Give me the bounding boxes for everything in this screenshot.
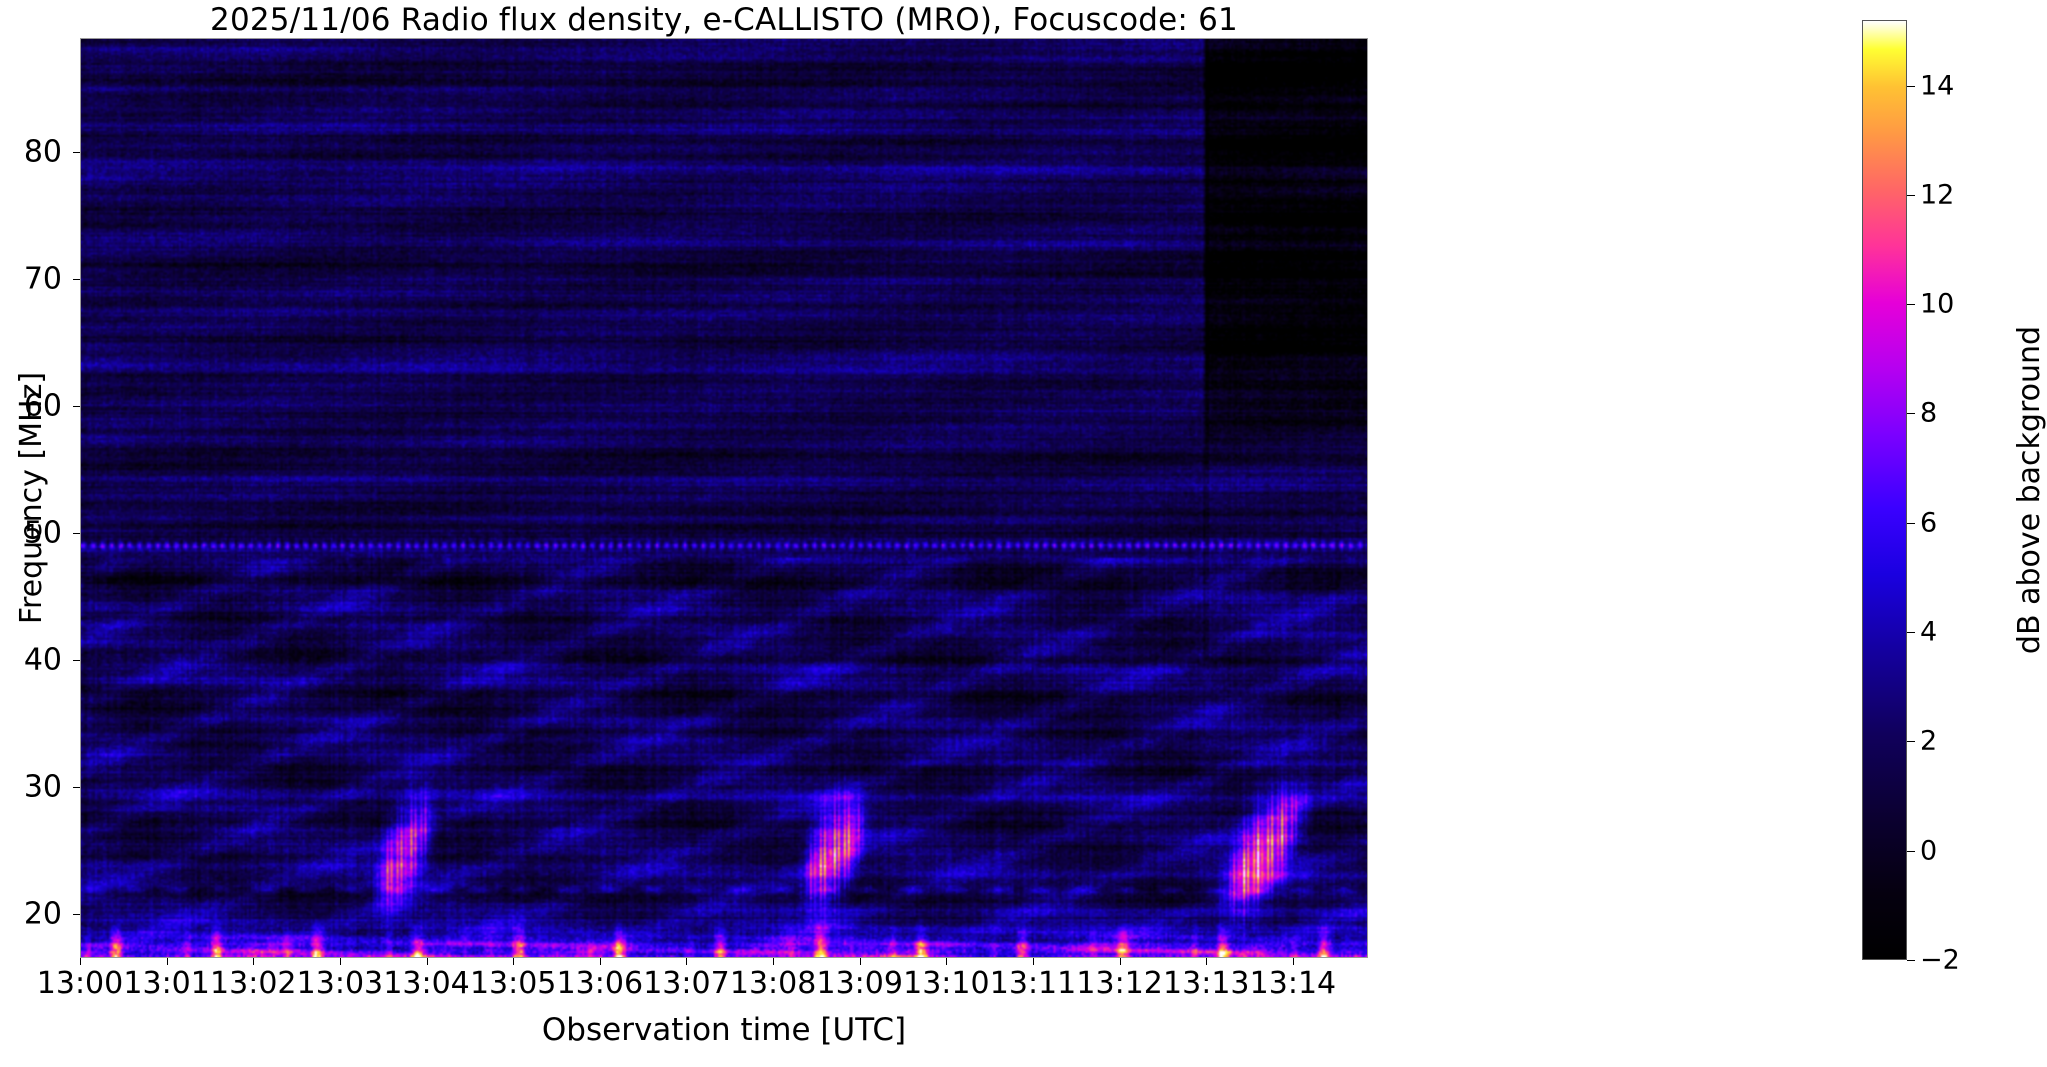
y-tick-mark — [73, 533, 80, 534]
x-tick-label: 13:07 — [643, 966, 729, 1001]
colorbar-gradient — [1863, 21, 1906, 959]
y-tick-label: 50 — [0, 515, 62, 550]
x-tick-mark — [167, 958, 168, 965]
x-tick-label: 13:13 — [1163, 966, 1249, 1001]
colorbar-tick-label: 4 — [1920, 617, 1937, 648]
colorbar-tick-mark — [1907, 413, 1915, 414]
x-tick-label: 13:01 — [123, 966, 209, 1001]
x-tick-mark — [1206, 958, 1207, 965]
x-tick-mark — [1293, 958, 1294, 965]
x-tick-label: 13:03 — [297, 966, 383, 1001]
colorbar-tick-label: 0 — [1920, 835, 1937, 866]
x-tick-mark — [773, 958, 774, 965]
x-tick-mark — [1033, 958, 1034, 965]
colorbar-tick-mark — [1907, 632, 1915, 633]
x-tick-label: 13:12 — [1076, 966, 1162, 1001]
x-tick-mark — [80, 958, 81, 965]
colorbar-label: dB above background — [2012, 20, 2047, 960]
x-tick-label: 13:08 — [730, 966, 816, 1001]
x-tick-label: 13:02 — [210, 966, 296, 1001]
x-tick-label: 13:09 — [816, 966, 902, 1001]
y-tick-label: 20 — [0, 896, 62, 931]
x-tick-mark — [427, 958, 428, 965]
x-tick-mark — [1120, 958, 1121, 965]
x-tick-mark — [946, 958, 947, 965]
y-tick-label: 30 — [0, 769, 62, 804]
x-tick-mark — [600, 958, 601, 965]
y-axis-label: Frequency [MHz] — [14, 38, 48, 958]
colorbar-tick-mark — [1907, 741, 1915, 742]
x-tick-mark — [686, 958, 687, 965]
colorbar-tick-mark — [1907, 86, 1915, 87]
y-tick-mark — [73, 279, 80, 280]
x-tick-label: 13:06 — [557, 966, 643, 1001]
y-tick-mark — [73, 660, 80, 661]
colorbar-tick-label: 8 — [1920, 398, 1937, 429]
x-tick-label: 13:10 — [903, 966, 989, 1001]
x-tick-mark — [513, 958, 514, 965]
spectrogram-plot-area[interactable] — [80, 38, 1368, 958]
colorbar-tick-label: 10 — [1920, 289, 1954, 320]
y-tick-mark — [73, 914, 80, 915]
x-axis-label: Observation time [UTC] — [80, 1012, 1368, 1048]
colorbar-tick-mark — [1907, 195, 1915, 196]
x-tick-mark — [340, 958, 341, 965]
page-title: 2025/11/06 Radio flux density, e-CALLIST… — [80, 2, 1368, 38]
x-tick-label: 13:00 — [37, 966, 123, 1001]
y-tick-label: 40 — [0, 642, 62, 677]
colorbar-tick-label: 2 — [1920, 726, 1937, 757]
x-tick-label: 13:04 — [383, 966, 469, 1001]
x-tick-mark — [860, 958, 861, 965]
colorbar[interactable] — [1862, 20, 1907, 960]
colorbar-tick-mark — [1907, 304, 1915, 305]
x-tick-label: 13:05 — [470, 966, 556, 1001]
x-tick-mark — [253, 958, 254, 965]
colorbar-tick-label: −2 — [1920, 945, 1960, 976]
y-tick-label: 80 — [0, 135, 62, 170]
colorbar-tick-label: 14 — [1920, 70, 1954, 101]
colorbar-tick-label: 6 — [1920, 507, 1937, 538]
y-tick-label: 60 — [0, 389, 62, 424]
x-tick-label: 13:14 — [1250, 966, 1336, 1001]
y-tick-label: 70 — [0, 262, 62, 297]
y-tick-mark — [73, 406, 80, 407]
colorbar-tick-mark — [1907, 960, 1915, 961]
y-tick-mark — [73, 152, 80, 153]
colorbar-tick-mark — [1907, 851, 1915, 852]
spectrogram-image — [81, 39, 1367, 957]
colorbar-tick-label: 12 — [1920, 179, 1954, 210]
colorbar-tick-mark — [1907, 523, 1915, 524]
y-tick-mark — [73, 787, 80, 788]
x-tick-label: 13:11 — [990, 966, 1076, 1001]
